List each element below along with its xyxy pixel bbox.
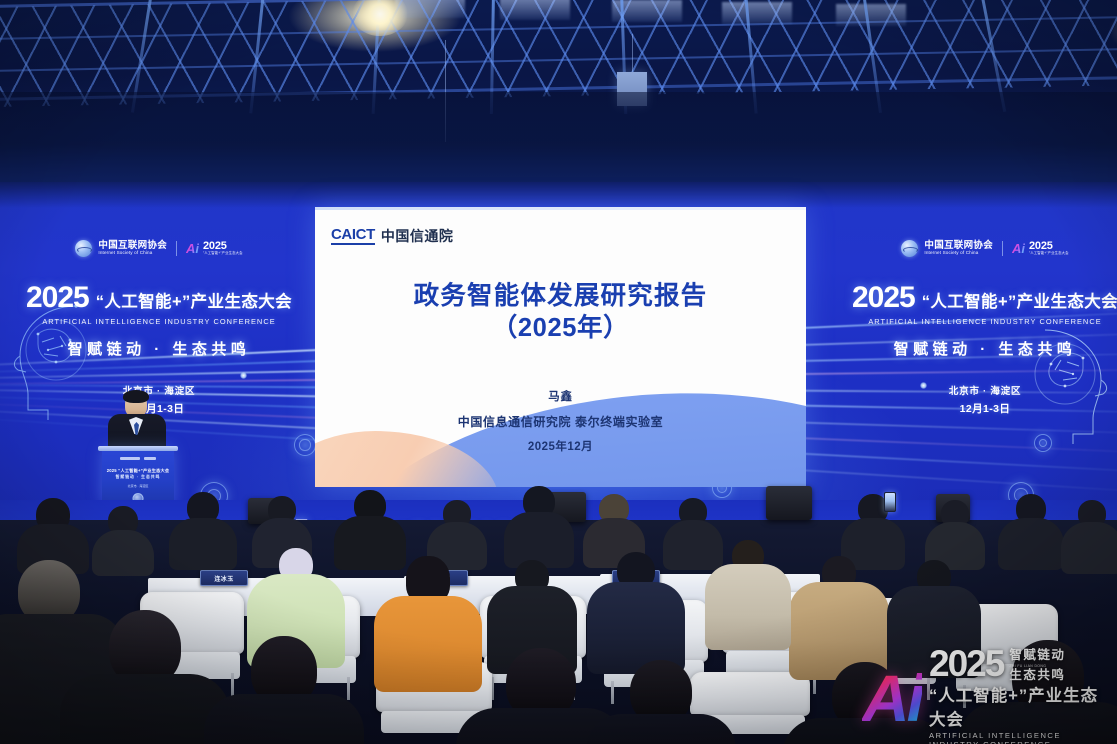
conference-title-en: ARTIFICIAL INTELLIGENCE INDUSTRY CONFERE… [24,317,294,326]
conference-photo: 中国互联网协会 Internet Society of China Ai 202… [0,0,1117,744]
ceiling-shadow-gradient [0,92,1117,188]
audience-member-foreground [214,636,354,744]
podium: 2025 “人工智能+”产业生态大会 智赋链动 · 生态共鸣 北京市 · 海淀区 [102,448,174,504]
conference-year: 2025 [852,283,915,313]
stage-speaker-box [766,486,812,520]
network-node-icon [294,434,316,456]
watermark-slogan-en: ZHI FU LIAN DONG [1009,664,1065,668]
slide-organization: 中国信息通信研究院 泰尔终端实验室 [315,413,806,430]
skylight-panel [836,4,906,26]
conference-slogan: 智赋链动 · 生态共鸣 [24,338,294,359]
organizer-name-en: Internet Society of China [924,251,993,256]
podium-logo-row [102,457,174,460]
podium-title: 2025 “人工智能+”产业生态大会 [102,468,174,474]
globe-icon [901,240,918,257]
skylight-panel [722,2,792,24]
slide-top-strip [315,207,806,210]
logo-divider [176,241,177,256]
caict-logo-mark: CAICT [331,227,375,246]
nameplate: 连冰玉 [200,570,248,586]
conference-title-line: 2025 “人工智能+”产业生态大会 [24,283,294,313]
conference-place: 北京市 · 海淀区 [850,383,1117,397]
podium-logo-chip [120,457,140,460]
audience-member [1000,494,1062,566]
watermark-title-cn: “人工智能+”产业生态大会 [929,682,1112,730]
audience-member-foreground [70,610,220,744]
conference-date: 12月1-3日 [850,401,1117,416]
wall-top-fade [0,182,1117,208]
conference-year: 2025 [26,283,89,313]
audience-member [170,492,236,564]
watermark-slogan-line1: 智赋链动 [1009,648,1065,662]
slide-title: 政务智能体发展研究报告 （2025年） [315,281,806,344]
ai-logo-sub: "人工智能+"产业生态大会 [203,252,243,255]
ai-watermark-logo: Ai [862,671,922,725]
skylight-panel [500,0,570,20]
speaker-hair [123,390,149,403]
smartphone [884,492,896,512]
conference-title-en: ARTIFICIAL INTELLIGENCE INDUSTRY CONFERE… [850,317,1117,326]
internet-society-logo: 中国互联网协会 Internet Society of China [75,240,167,257]
slide-title-year: （2025年） [315,313,806,344]
network-node-icon [1034,434,1052,452]
audience-member-beige-hoodie [706,540,790,648]
audience-member-orange-coat [376,556,480,686]
venue-ceiling [0,0,1117,186]
caict-logo-cn: 中国信通院 [381,226,454,246]
logo-divider [1002,241,1003,256]
conference-title-line: 2025 “人工智能+”产业生态大会 [850,283,1117,313]
watermark-slogan-line2: 生态共鸣 [1009,668,1065,682]
led-branding-right: 中国互联网协会 Internet Society of China Ai 202… [850,240,1117,416]
audience-member [926,500,984,566]
projected-slide: CAICT 中国信通院 政务智能体发展研究报告 （2025年） 马鑫 中国信息通… [315,207,806,487]
ai-conference-logo: Ai 2025 "人工智能+"产业生态大会 [1012,241,1069,255]
slide-author: 马鑫 [315,388,806,404]
conference-title-cn: “人工智能+”产业生态大会 [96,294,292,311]
organizer-logo-row: 中国互联网协会 Internet Society of China Ai 202… [24,240,294,257]
audience-member [18,498,88,568]
caict-logo: CAICT 中国信通院 [331,226,453,246]
podium-area: 2025 “人工智能+”产业生态大会 智赋链动 · 生态共鸣 北京市 · 海淀区 [96,392,180,504]
audience-member [1062,500,1117,570]
slide-title-main: 政务智能体发展研究报告 [414,282,708,310]
organizer-logo-row: 中国互联网协会 Internet Society of China Ai 202… [850,240,1117,257]
organizer-name-en: Internet Society of China [98,251,167,256]
audience-member [506,486,572,564]
watermark-title-en: ARTIFICIAL INTELLIGENCE INDUSTRY CONFERE… [929,731,1112,744]
ai-conference-logo: Ai 2025 "人工智能+"产业生态大会 [186,241,243,255]
audience-member-foreground [596,660,726,744]
podium-place: 北京市 · 海淀区 [102,484,174,489]
podium-logo-chip [144,457,156,460]
audience-member [336,490,404,566]
ai-logo-sub: "人工智能+"产业生态大会 [1029,252,1069,255]
globe-icon [75,240,92,257]
event-watermark: Ai 2025 智赋链动 ZHI FU LIAN DONG 生态共鸣 “人工智能… [862,655,1112,741]
conference-title-cn: “人工智能+”产业生态大会 [922,294,1117,311]
hanging-wire [632,34,633,76]
podium-slogan: 智赋链动 · 生态共鸣 [102,475,174,480]
internet-society-logo: 中国互联网协会 Internet Society of China [901,240,993,257]
watermark-year: 2025 [929,647,1003,680]
slide-date: 2025年12月 [315,438,806,454]
ai-logo-mark: Ai [1012,242,1025,255]
watermark-slogan: 智赋链动 ZHI FU LIAN DONG 生态共鸣 [1009,648,1065,683]
ai-logo-mark: Ai [186,242,199,255]
conference-slogan: 智赋链动 · 生态共鸣 [850,338,1117,359]
podium-top-surface [98,446,178,451]
led-branding-left: 中国互联网协会 Internet Society of China Ai 202… [24,240,294,416]
